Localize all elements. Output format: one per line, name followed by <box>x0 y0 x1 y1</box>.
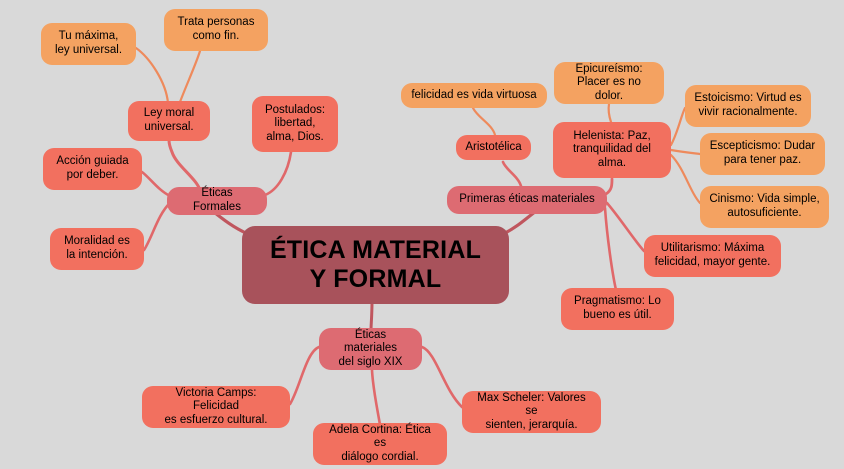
mindmap-node-escepticismo[interactable]: Escepticismo: Dudar para tener paz. <box>700 133 825 175</box>
mindmap-node-helenista[interactable]: Helenista: Paz, tranquilidad del alma. <box>553 122 671 178</box>
connector-edge <box>473 108 495 135</box>
connector-edge <box>671 150 700 154</box>
mindmap-node-ley-moral-universal[interactable]: Ley moral universal. <box>128 101 210 141</box>
mindmap-node-eticas-formales[interactable]: Éticas Formales <box>167 187 267 215</box>
mindmap-node-epicureismo[interactable]: Epicureísmo: Placer es no dolor. <box>554 62 664 104</box>
mindmap-node-eticas-materiales-siglo-xix[interactable]: Éticas materiales del siglo XIX <box>319 328 422 370</box>
connector-edge <box>607 203 644 251</box>
mindmap-node-utilitarismo[interactable]: Utilitarismo: Máxima felicidad, mayor ge… <box>644 235 781 277</box>
connector-edge <box>671 108 685 145</box>
mindmap-node-felicidad-es-vida-virtuosa[interactable]: felicidad es vida virtuosa <box>401 83 547 108</box>
mindmap-node-victoria-camps[interactable]: Victoria Camps: Felicidad es esfuerzo cu… <box>142 386 290 428</box>
mindmap-node-accion-guiada-por-deber[interactable]: Acción guiada por deber. <box>43 148 142 190</box>
mindmap-canvas: ÉTICA MATERIAL Y FORMALÉticas FormalesLe… <box>0 0 844 469</box>
mindmap-node-pragmatismo[interactable]: Pragmatismo: Lo bueno es útil. <box>561 288 674 330</box>
mindmap-node-root[interactable]: ÉTICA MATERIAL Y FORMAL <box>242 226 509 304</box>
connector-edge <box>180 51 200 102</box>
connector-edge <box>606 179 612 194</box>
mindmap-node-adela-cortina[interactable]: Adela Cortina: Ética es diálogo cordial. <box>313 423 447 465</box>
connector-edge <box>503 162 521 186</box>
connector-edge <box>144 203 170 250</box>
mindmap-node-estoicismo[interactable]: Estoicismo: Virtud es vivir racionalment… <box>685 85 811 127</box>
mindmap-node-trata-personas-como-fin[interactable]: Trata personas como fin. <box>164 9 268 51</box>
connector-edge <box>265 152 291 195</box>
connector-edge <box>169 140 200 190</box>
mindmap-node-postulados[interactable]: Postulados: libertad, alma, Dios. <box>252 96 338 152</box>
connector-edge <box>671 155 700 203</box>
connector-edge <box>371 302 372 330</box>
mindmap-node-primeras-eticas-materiales[interactable]: Primeras éticas materiales <box>447 186 607 214</box>
connector-edge <box>422 347 462 407</box>
connector-edge <box>372 370 380 425</box>
mindmap-node-aristotelica[interactable]: Aristotélica <box>456 135 531 160</box>
connector-edge <box>136 48 168 103</box>
connector-edge <box>605 208 616 290</box>
connector-edge <box>142 172 170 196</box>
mindmap-node-moralidad-es-la-intencion[interactable]: Moralidad es la intención. <box>50 228 144 270</box>
mindmap-node-tu-maxima-ley-universal[interactable]: Tu máxima, ley universal. <box>41 23 136 65</box>
mindmap-node-max-scheler[interactable]: Max Scheler: Valores se sienten, jerarqu… <box>462 391 601 433</box>
connector-edge <box>290 347 319 404</box>
connector-edge <box>609 104 611 122</box>
mindmap-node-cinismo[interactable]: Cinismo: Vida simple, autosuficiente. <box>700 186 829 228</box>
